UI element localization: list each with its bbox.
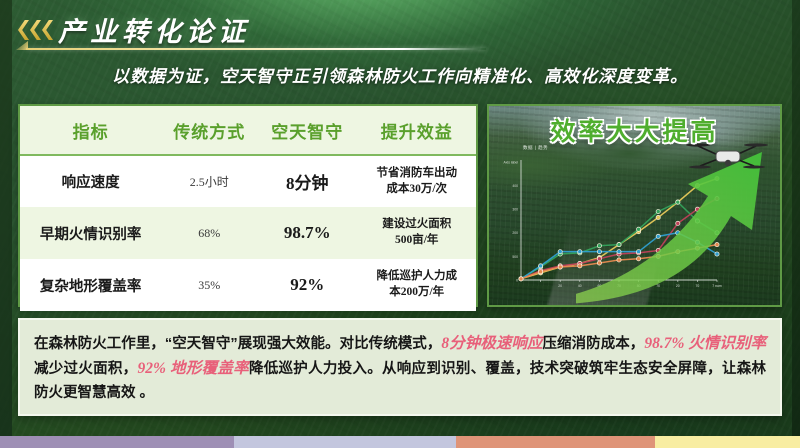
svg-text:Axis label: Axis label bbox=[503, 160, 518, 164]
image-overlay-title: 效率大大提高 bbox=[489, 112, 780, 148]
cell-traditional: 35% bbox=[161, 259, 257, 311]
image-panel: 数据 | 趋势 0500200300400Axis label204060708… bbox=[487, 104, 782, 307]
segment-lavender[interactable] bbox=[234, 436, 456, 448]
column-header-smart: 空天智守 bbox=[257, 106, 357, 155]
segment-yellow[interactable] bbox=[655, 436, 800, 448]
summary-highlight-coverage: 92% 地形覆盖率 bbox=[137, 360, 248, 377]
cell-traditional: 68% bbox=[161, 207, 257, 259]
segment-salmon[interactable] bbox=[456, 436, 655, 448]
summary-text-2: 压缩消防成本， bbox=[543, 336, 645, 352]
column-header-traditional: 传统方式 bbox=[161, 106, 257, 155]
comparison-table: 指标 传统方式 空天智守 提升效益 响应速度 2.5小时 8分钟 节省消防车出动… bbox=[20, 106, 476, 311]
segment-purple[interactable] bbox=[0, 436, 234, 448]
slide-root: 产业转化论证 以数据为证，空天智守正引领森林防火工作向精准化、高效化深度变革。 … bbox=[0, 0, 800, 448]
cell-traditional: 2.5小时 bbox=[161, 155, 257, 207]
double-chevron-left-icon bbox=[18, 20, 53, 40]
svg-text:300: 300 bbox=[512, 208, 518, 212]
slide-header: 产业转化论证 bbox=[0, 0, 800, 54]
svg-text:20: 20 bbox=[558, 284, 562, 288]
svg-text:0: 0 bbox=[516, 278, 518, 282]
page-title: 产业转化论证 bbox=[58, 10, 250, 49]
summary-text-3: 减少过火面积， bbox=[34, 361, 137, 377]
summary-paragraph: 在森林防火工作里，“空天智守”展现强大效能。对比传统模式，8分钟极速响应压缩消防… bbox=[34, 331, 766, 405]
table-row: 复杂地形覆盖率 35% 92% 降低巡护人力成本200万/年 bbox=[20, 259, 476, 311]
table-row: 早期火情识别率 68% 98.7% 建设过火面积500亩/年 bbox=[20, 207, 476, 259]
progress-strip[interactable] bbox=[0, 436, 800, 448]
column-header-benefit: 提升效益 bbox=[357, 106, 476, 155]
cell-metric: 早期火情识别率 bbox=[20, 207, 161, 259]
subtitle: 以数据为证，空天智守正引领森林防火工作向精准化、高效化深度变革。 bbox=[0, 62, 800, 87]
cell-metric: 复杂地形覆盖率 bbox=[20, 259, 161, 311]
cell-benefit: 节省消防车出动成本30万/次 bbox=[357, 155, 476, 207]
cell-smart: 8分钟 bbox=[257, 155, 357, 207]
cell-smart: 98.7% bbox=[257, 207, 357, 259]
table-header-row: 指标 传统方式 空天智守 提升效益 bbox=[20, 106, 476, 155]
cell-benefit: 建设过火面积500亩/年 bbox=[357, 207, 476, 259]
cell-benefit: 降低巡护人力成本200万/年 bbox=[357, 259, 476, 311]
comparison-table-card: 指标 传统方式 空天智守 提升效益 响应速度 2.5小时 8分钟 节省消防车出动… bbox=[18, 104, 478, 307]
title-underline bbox=[26, 48, 486, 50]
column-header-metric: 指标 bbox=[20, 106, 161, 155]
svg-text:200: 200 bbox=[512, 231, 518, 235]
table-row: 响应速度 2.5小时 8分钟 节省消防车出动成本30万/次 bbox=[20, 155, 476, 207]
summary-highlight-response: 8分钟极速响应 bbox=[441, 335, 542, 352]
cell-smart: 92% bbox=[257, 259, 357, 311]
summary-text-1: 在森林防火工作里，“空天智守”展现强大效能。对比传统模式， bbox=[34, 336, 441, 352]
summary-highlight-detection: 98.7% 火情识别率 bbox=[644, 335, 766, 352]
svg-text:500: 500 bbox=[512, 255, 518, 259]
cell-metric: 响应速度 bbox=[20, 155, 161, 207]
svg-text:400: 400 bbox=[512, 184, 518, 188]
summary-box: 在森林防火工作里，“空天智守”展现强大效能。对比传统模式，8分钟极速响应压缩消防… bbox=[18, 318, 782, 416]
